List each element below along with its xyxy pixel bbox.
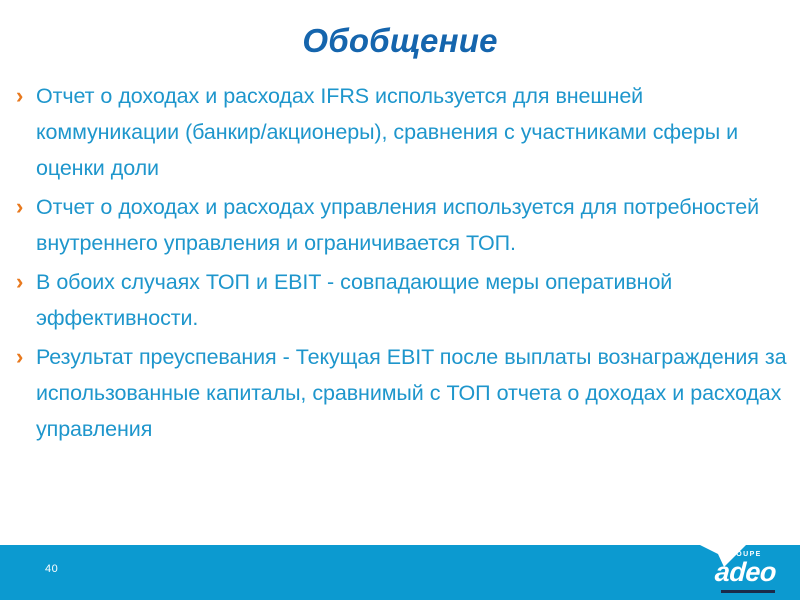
logo-underline: [721, 590, 775, 593]
list-item: › Отчет о доходах и расходах управления …: [14, 189, 790, 261]
list-item: › Результат преуспевания - Текущая EBIT …: [14, 339, 790, 447]
list-item-text: В обоих случаях ТОП и EBIT - совпадающие…: [36, 264, 790, 336]
brand-logo: GROUPE adeo: [715, 550, 791, 596]
list-item-text: Отчет о доходах и расходах IFRS использу…: [36, 78, 790, 186]
logo-wordmark: adeo: [714, 557, 777, 587]
bullet-list: › Отчет о доходах и расходах IFRS исполь…: [14, 78, 790, 450]
chevron-right-icon: ›: [16, 264, 34, 300]
chevron-right-icon: ›: [16, 189, 34, 225]
list-item: › В обоих случаях ТОП и EBIT - совпадающ…: [14, 264, 790, 336]
list-item: › Отчет о доходах и расходах IFRS исполь…: [14, 78, 790, 186]
chevron-right-icon: ›: [16, 78, 34, 114]
slide-canvas: Обобщение › Отчет о доходах и расходах I…: [0, 0, 800, 600]
page-number: 40: [45, 563, 58, 576]
list-item-text: Результат преуспевания - Текущая EBIT по…: [36, 339, 790, 447]
chevron-right-icon: ›: [16, 339, 34, 375]
list-item-text: Отчет о доходах и расходах управления ис…: [36, 189, 790, 261]
footer-bar: [0, 545, 800, 600]
page-title: Обобщение: [0, 20, 800, 62]
